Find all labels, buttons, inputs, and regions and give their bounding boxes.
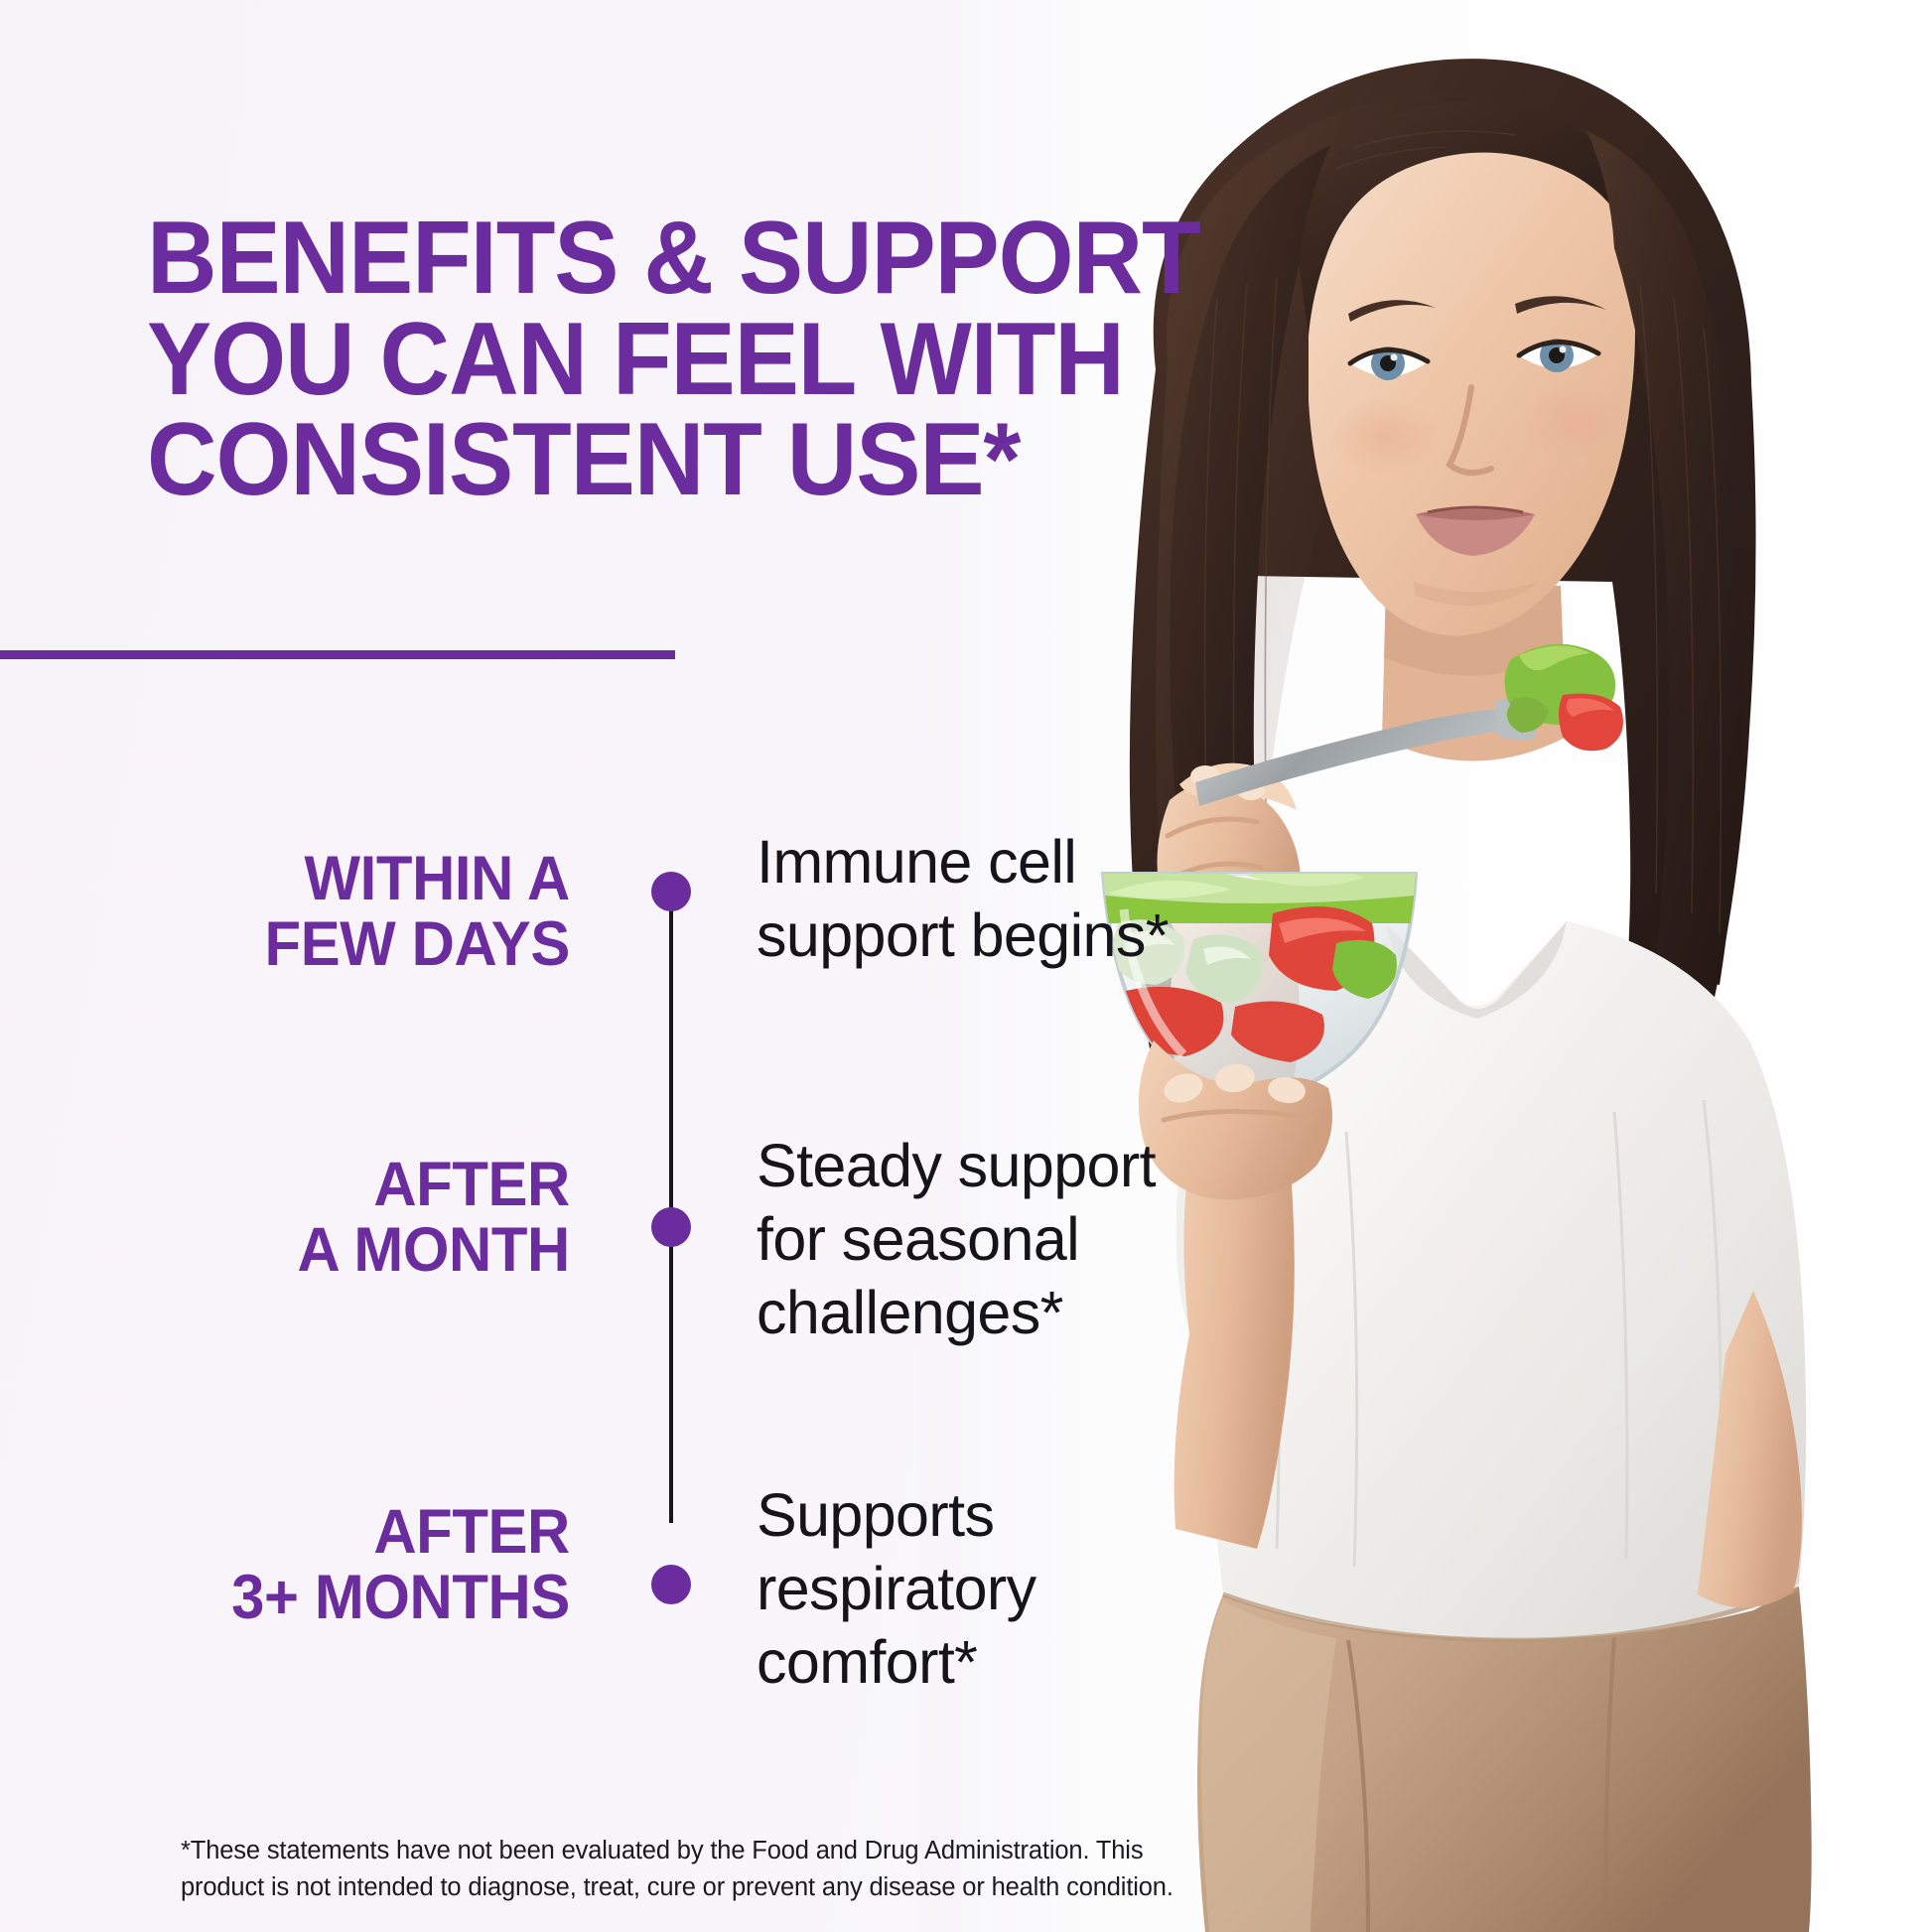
headline-line-2: YOU CAN FEEL WITH: [147, 310, 1089, 411]
benefit-line-3: challenges*: [757, 1279, 1063, 1346]
benefits-timeline: WITHIN A FEW DAYS Immune cell support be…: [0, 814, 1172, 1608]
cheek-right: [1523, 383, 1626, 459]
timeline-row-after-a-month: AFTER A MONTH Steady support for seasona…: [0, 1080, 1172, 1358]
stage-label-line-1: AFTER: [373, 1150, 570, 1219]
stage-label: AFTER A MONTH: [31, 1152, 607, 1283]
benefit-text: Immune cell support begins*: [757, 826, 1183, 973]
benefit-line-2: respiratory: [757, 1555, 1036, 1622]
timeline-dot: [651, 872, 691, 911]
timeline-row-after-3-plus-months: AFTER 3+ MONTHS Supports respiratory com…: [0, 1392, 1172, 1670]
benefit-line-2: for seasonal: [757, 1205, 1079, 1273]
headline-line-3: CONSISTENT USE*: [147, 410, 1089, 511]
benefit-line-1: Supports: [757, 1481, 994, 1549]
cheek-left: [1330, 397, 1442, 477]
benefit-text: Supports respiratory comfort*: [757, 1479, 1183, 1699]
stage-label-line-2: FEW DAYS: [265, 909, 570, 979]
benefit-line-2: support begins*: [757, 901, 1169, 969]
timeline-dot: [651, 1565, 691, 1604]
stage-label-line-2: 3+ MONTHS: [231, 1563, 570, 1632]
fda-disclaimer: *These statements have not been evaluate…: [181, 1833, 1193, 1906]
timeline-row-within-a-few-days: WITHIN A FEW DAYS Immune cell support be…: [0, 814, 1172, 1052]
benefit-line-1: Immune cell: [757, 828, 1076, 896]
stage-label-line-2: A MONTH: [298, 1215, 570, 1285]
timeline-dot: [651, 1207, 691, 1247]
disclaimer-line-2: product is not intended to diagnose, tre…: [181, 1869, 1193, 1906]
benefit-text: Steady support for seasonal challenges*: [757, 1130, 1183, 1349]
section-divider: [0, 650, 675, 659]
disclaimer-line-1: *These statements have not been evaluate…: [181, 1833, 1193, 1869]
headline-line-1: BENEFITS & SUPPORT: [147, 208, 1089, 310]
benefit-line-1: Steady support: [757, 1132, 1156, 1199]
stage-label-line-1: AFTER: [373, 1497, 570, 1567]
stage-label: AFTER 3+ MONTHS: [31, 1499, 607, 1630]
page-title: BENEFITS & SUPPORT YOU CAN FEEL WITH CON…: [147, 208, 1089, 512]
promo-poster: BENEFITS & SUPPORT YOU CAN FEEL WITH CON…: [0, 0, 1932, 1932]
stage-label-line-1: WITHIN A: [305, 844, 570, 913]
benefit-line-3: comfort*: [757, 1628, 977, 1696]
stage-label: WITHIN A FEW DAYS: [31, 846, 607, 977]
